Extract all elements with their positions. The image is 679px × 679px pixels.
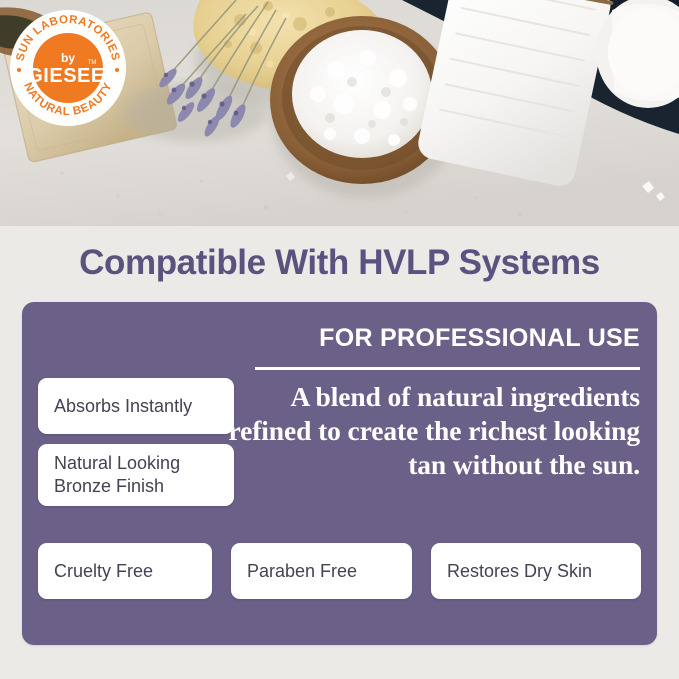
- feature-pill-label: Cruelty Free: [54, 561, 153, 582]
- logo-svg: SUN LABORATORIES NATURAL BEAUTY by GIESE…: [8, 8, 128, 128]
- features-panel: FOR PROFESSIONAL USE A blend of natural …: [22, 302, 657, 645]
- logo-brand-text: GIESEE: [27, 65, 104, 87]
- feature-pill-absorbs-instantly[interactable]: Absorbs Instantly: [38, 378, 234, 434]
- feature-pill-label: Absorbs Instantly: [54, 396, 192, 417]
- logo-dot-left: [17, 68, 21, 72]
- logo-trademark-text: TM: [88, 60, 97, 66]
- feature-pill-label-line2: Bronze Finish: [54, 476, 164, 496]
- feature-pill-label: Natural Looking Bronze Finish: [54, 452, 180, 499]
- feature-pill-paraben-free[interactable]: Paraben Free: [231, 543, 412, 599]
- feature-pill-label-line1: Natural Looking: [54, 453, 180, 473]
- professional-use-heading: FOR PROFESSIONAL USE: [255, 324, 640, 353]
- feature-pill-natural-looking-bronze-finish[interactable]: Natural Looking Bronze Finish: [38, 444, 234, 506]
- page-headline: Compatible With HVLP Systems: [0, 243, 679, 283]
- logo-by-text: by: [61, 51, 75, 65]
- logo-dot-right: [115, 68, 119, 72]
- feature-pill-cruelty-free[interactable]: Cruelty Free: [38, 543, 212, 599]
- product-blurb: A blend of natural ingredients refined t…: [225, 380, 640, 482]
- feature-pill-label: Restores Dry Skin: [447, 561, 592, 582]
- sun-laboratories-logo-badge: SUN LABORATORIES NATURAL BEAUTY by GIESE…: [8, 8, 128, 128]
- feature-pill-restores-dry-skin[interactable]: Restores Dry Skin: [431, 543, 641, 599]
- product-marketing-image: SUN LABORATORIES NATURAL BEAUTY by GIESE…: [0, 0, 679, 679]
- feature-pill-label: Paraben Free: [247, 561, 357, 582]
- heading-divider: [255, 367, 640, 370]
